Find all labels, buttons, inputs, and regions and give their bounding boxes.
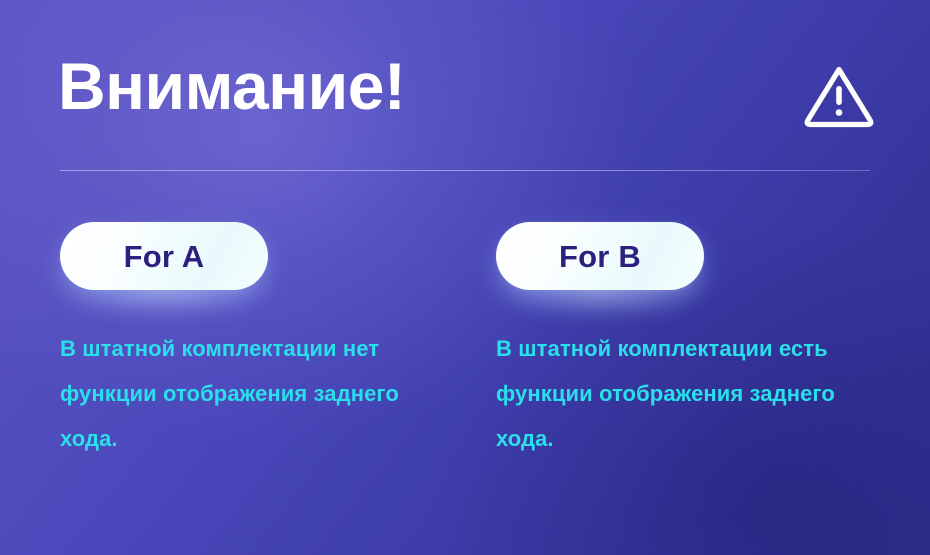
warning-slide: Внимание! For A В штатной комплектации н… [0, 0, 930, 555]
description-for-a: В штатной комплектации нет функции отобр… [60, 326, 445, 461]
pill-wrap-for-b: For B [496, 222, 704, 290]
option-column-for-b: For B В штатной комплектации есть функци… [496, 222, 896, 290]
description-for-b: В штатной комплектации есть функции отоб… [496, 326, 886, 461]
pill-wrap-for-a: For A [60, 222, 268, 290]
header-divider [60, 170, 870, 171]
pill-label-for-a: For A [124, 241, 205, 272]
pill-label-for-b: For B [559, 241, 641, 272]
option-column-for-a: For A В штатной комплектации нет функции… [60, 222, 460, 290]
pill-button-for-a[interactable]: For A [60, 222, 268, 290]
pill-button-for-b[interactable]: For B [496, 222, 704, 290]
warning-triangle-icon [803, 62, 875, 130]
page-title: Внимание! [58, 52, 405, 121]
